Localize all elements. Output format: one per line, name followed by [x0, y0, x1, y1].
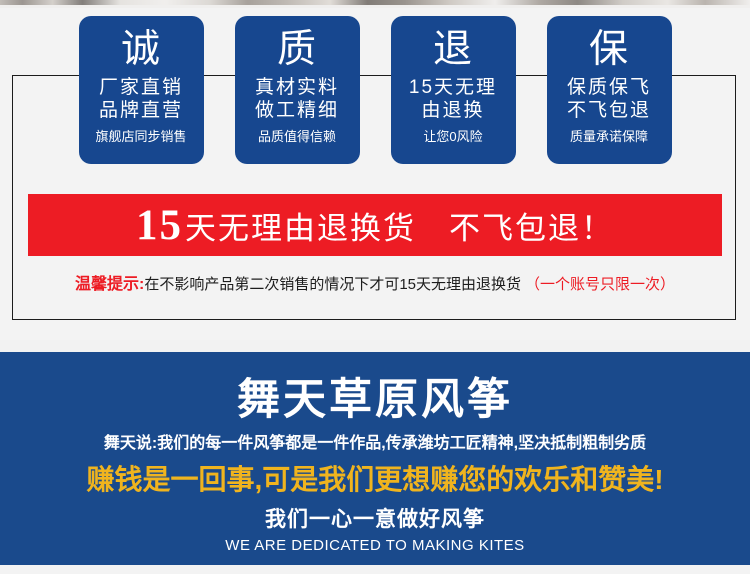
promise-card-line2: 品牌直营 — [99, 99, 183, 122]
promise-card-note: 品质值得信赖 — [258, 129, 336, 145]
promise-card-line2: 做工精细 — [255, 99, 339, 122]
promise-cards-row: 诚 厂家直销 品牌直营 旗舰店同步销售 质 真材实料 做工精细 品质值得信赖 退… — [0, 16, 750, 164]
brand-subtitle: 舞天说:我们的每一件风筝都是一件作品,传承潍坊工匠精神,坚决抵制粗制劣质 — [0, 433, 750, 455]
promise-card-note: 质量承诺保障 — [570, 129, 648, 145]
warm-tip-note: （一个账号只限一次） — [525, 276, 675, 293]
promise-card-line2: 不飞包退 — [567, 99, 651, 122]
guarantee-section: 诚 厂家直销 品牌直营 旗舰店同步销售 质 真材实料 做工精细 品质值得信赖 退… — [0, 8, 750, 340]
brand-slogan-en: WE ARE DEDICATED TO MAKING KITES — [0, 536, 750, 555]
promise-card-cheng: 诚 厂家直销 品牌直营 旗舰店同步销售 — [79, 16, 204, 164]
promise-card-line1: 厂家直销 — [99, 76, 183, 99]
promise-card-tui: 退 15天无理 由退换 让您0风险 — [391, 16, 516, 164]
promise-card-note: 让您0风险 — [423, 129, 482, 145]
return-days-number: 15 — [136, 204, 183, 247]
brand-gold-line: 赚钱是一回事,可是我们更想赚您的欢乐和赞美! — [0, 463, 750, 497]
brand-title: 舞天草原风筝 — [0, 352, 750, 425]
return-policy-label: 天无理由退换货 不飞包退！ — [185, 203, 614, 248]
promise-card-keyword: 保 — [589, 29, 629, 71]
promise-card-zhi: 质 真材实料 做工精细 品质值得信赖 — [235, 16, 360, 164]
warm-tip-body: 在不影响产品第二次销售的情况下才可15天无理由退换货 — [144, 276, 521, 293]
return-policy-banner: 15天无理由退换货 不飞包退！ — [28, 194, 722, 256]
brand-slogan-cn: 我们一心一意做好风筝 — [0, 507, 750, 533]
promise-card-line1: 真材实料 — [255, 76, 339, 99]
promise-card-keyword: 质 — [277, 29, 317, 71]
promise-card-note: 旗舰店同步销售 — [95, 129, 186, 145]
promise-card-line1: 15天无理 — [409, 76, 497, 99]
promise-card-bao: 保 保质保飞 不飞包退 质量承诺保障 — [547, 16, 672, 164]
warm-tip-line: 温馨提示:在不影响产品第二次销售的情况下才可15天无理由退换货（一个账号只限一次… — [0, 275, 750, 295]
return-policy-banner-text: 15天无理由退换货 不飞包退！ — [136, 203, 614, 248]
brand-section: 舞天草原风筝 舞天说:我们的每一件风筝都是一件作品,传承潍坊工匠精神,坚决抵制粗… — [0, 352, 750, 565]
promise-card-keyword: 退 — [433, 29, 473, 71]
promise-card-line1: 保质保飞 — [567, 76, 651, 99]
bottom-edge-strip — [0, 565, 750, 574]
promise-card-keyword: 诚 — [121, 29, 161, 71]
promise-card-line2: 由退换 — [421, 99, 484, 122]
warm-tip-label: 温馨提示: — [75, 276, 144, 293]
